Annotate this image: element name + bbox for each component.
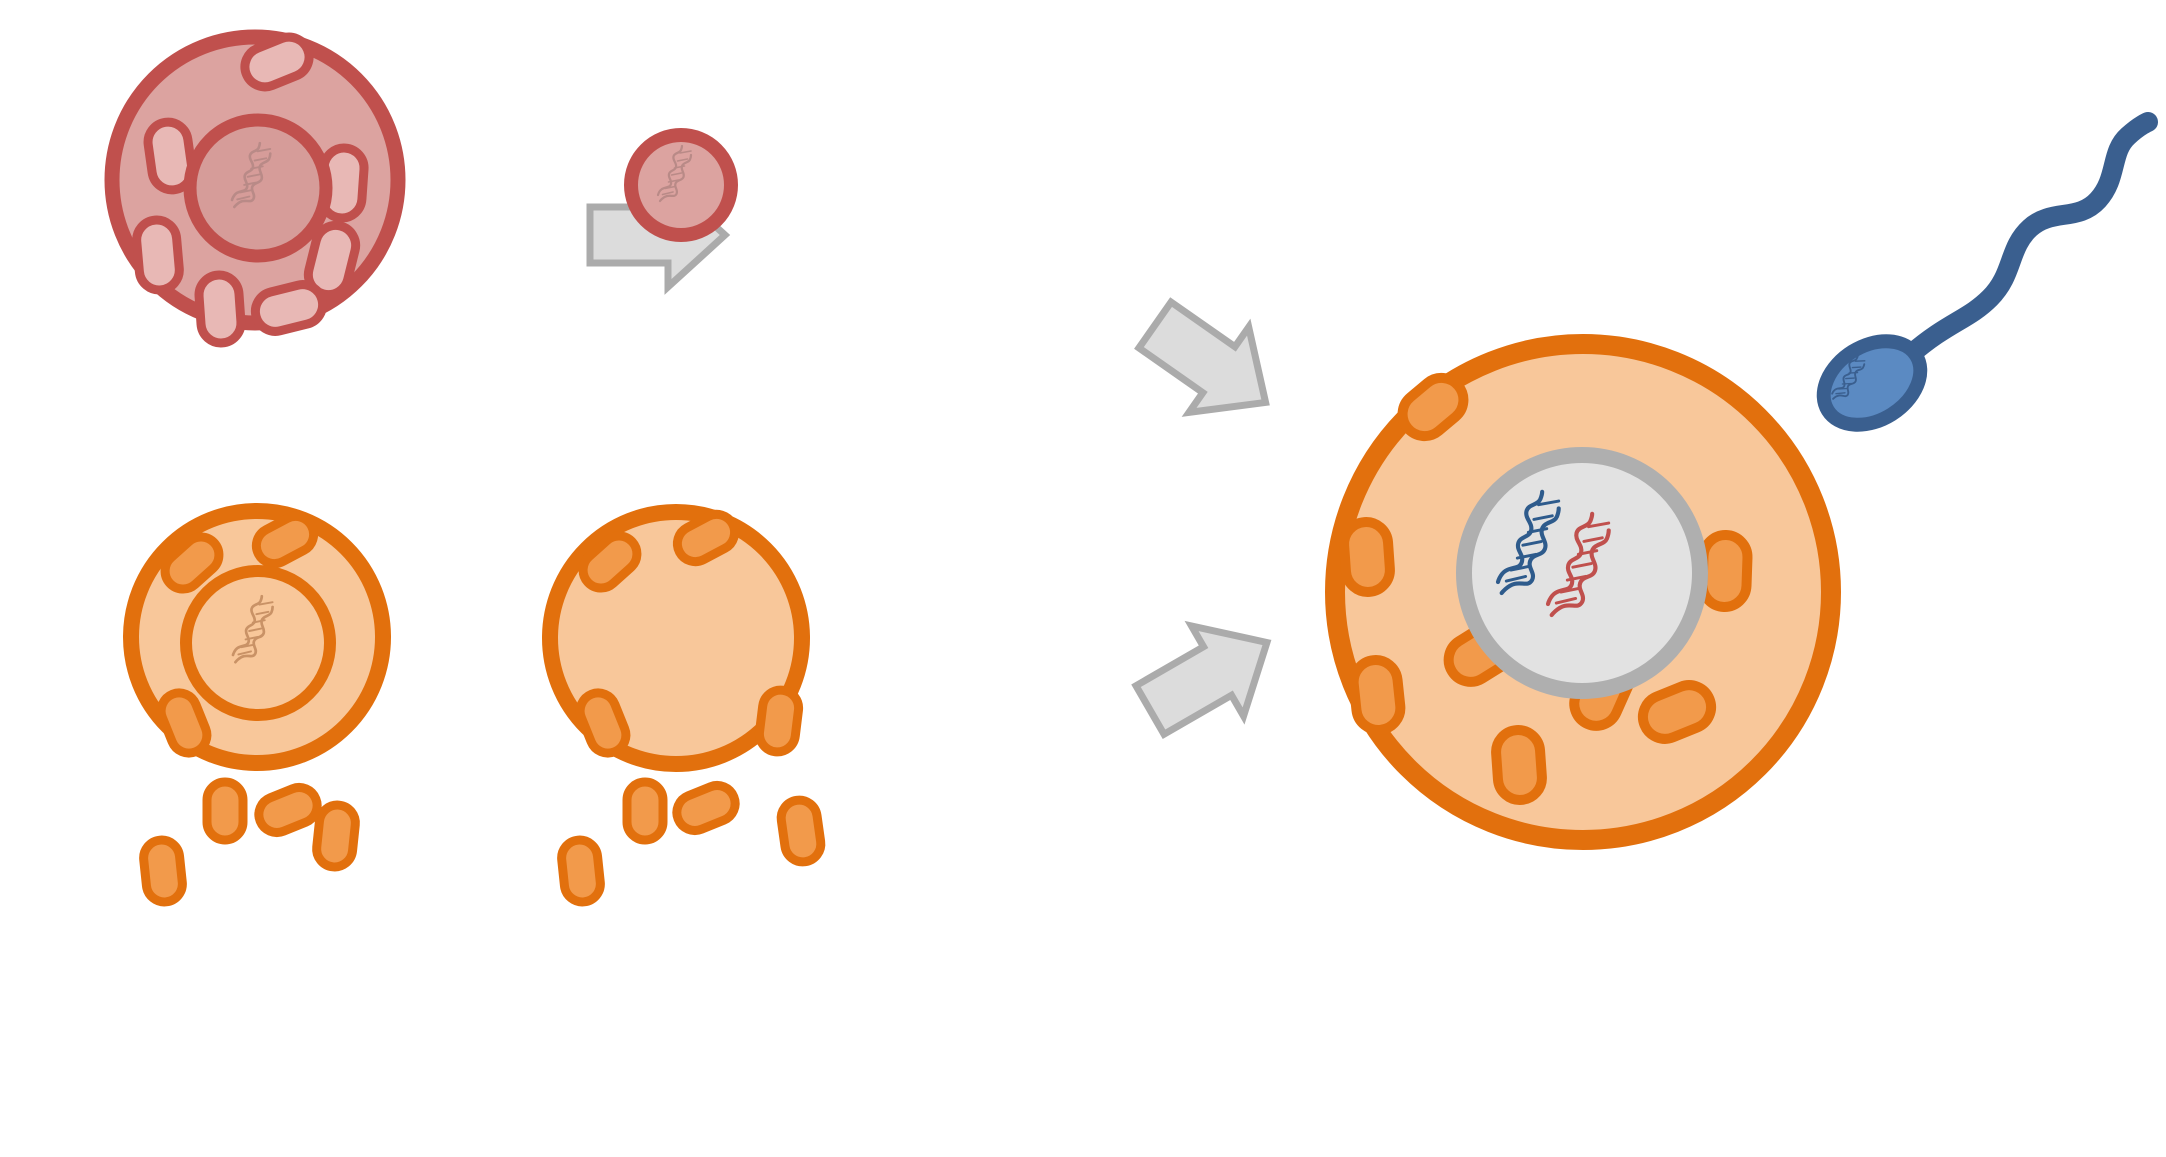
mitochondrion (627, 782, 663, 840)
mitochondrion (198, 274, 243, 345)
mitochondrion (779, 798, 823, 864)
nuclear-envelope (190, 120, 326, 256)
diagram-canvas (0, 0, 2166, 1157)
cell-reconstruction-diagram (0, 0, 2166, 1157)
hybrid-nucleus[interactable] (1464, 455, 1700, 691)
mitochondrion (757, 688, 800, 754)
nuclear-envelope (1464, 455, 1700, 691)
sperm-tail (1910, 122, 2148, 355)
mitochondrion (1702, 534, 1748, 607)
mitochondrion (315, 803, 357, 868)
mitochondrion (1495, 729, 1544, 802)
nuclear-envelope (186, 571, 330, 715)
mitochondrion (671, 780, 740, 836)
donor-nucleus[interactable] (190, 120, 326, 256)
mitochondrion (253, 782, 322, 838)
sperm-cell[interactable] (1808, 122, 2148, 442)
oocyte-nucleus[interactable] (186, 571, 330, 715)
mitochondrion (135, 218, 181, 291)
stage-recipient-oocyte[interactable] (131, 510, 383, 904)
stage-reconstructed-cell[interactable] (1335, 344, 1831, 840)
stage-donor-somatic-cell[interactable] (112, 31, 398, 344)
arrow-nucleus-transfer[interactable] (1125, 282, 1295, 445)
mitochondrion (1351, 658, 1402, 732)
arrow-cytoplast-transfer[interactable] (1124, 597, 1293, 755)
stage-extracted-nucleus[interactable] (631, 135, 731, 235)
mitochondrion (1343, 521, 1392, 594)
mitochondrion (560, 838, 602, 903)
stage-enucleated-oocyte[interactable] (550, 508, 823, 904)
mitochondrion (207, 782, 243, 840)
mitochondrion (142, 838, 184, 903)
